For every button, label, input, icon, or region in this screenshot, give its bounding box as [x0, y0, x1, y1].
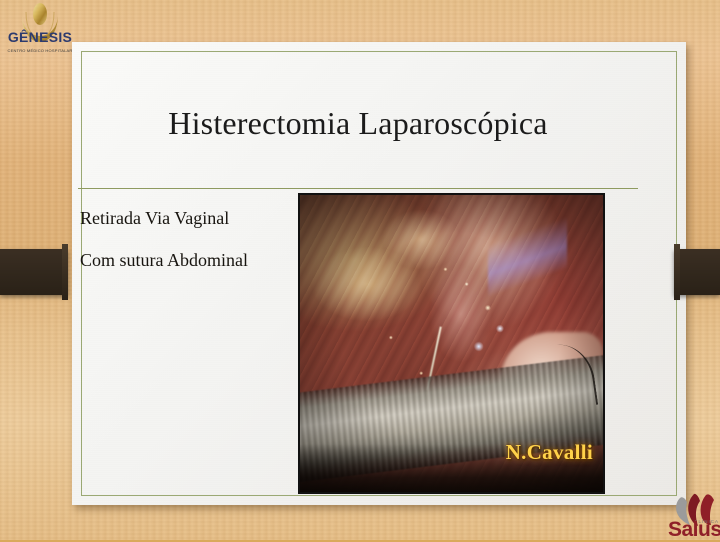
left-side-tab [0, 249, 68, 295]
genesis-tagline: CENTRO MÉDICO HOSPITALAR [2, 48, 78, 53]
body-text-block: Retirada Via Vaginal Com sutura Abdomina… [80, 208, 295, 292]
slide-title: Histerectomia Laparoscópica [78, 105, 638, 142]
genesis-wordmark: GÊNESIS [2, 29, 78, 45]
title-divider [78, 188, 638, 189]
salus-logo: CLÍNICA Salus [668, 492, 720, 540]
photo-watermark: N.Cavalli [506, 440, 593, 465]
salus-wordmark: Salus [668, 518, 720, 542]
body-line-2: Com sutura Abdominal [80, 250, 295, 271]
left-side-tab-cap [62, 244, 68, 300]
body-line-1: Retirada Via Vaginal [80, 208, 295, 229]
surgical-photo: N.Cavalli [298, 193, 605, 494]
right-side-tab-cap [674, 244, 680, 300]
slide-canvas: Histerectomia Laparoscópica Retirada Via… [0, 0, 720, 540]
genesis-logo: GÊNESIS CENTRO MÉDICO HOSPITALAR [2, 2, 78, 54]
right-side-tab [674, 249, 720, 295]
